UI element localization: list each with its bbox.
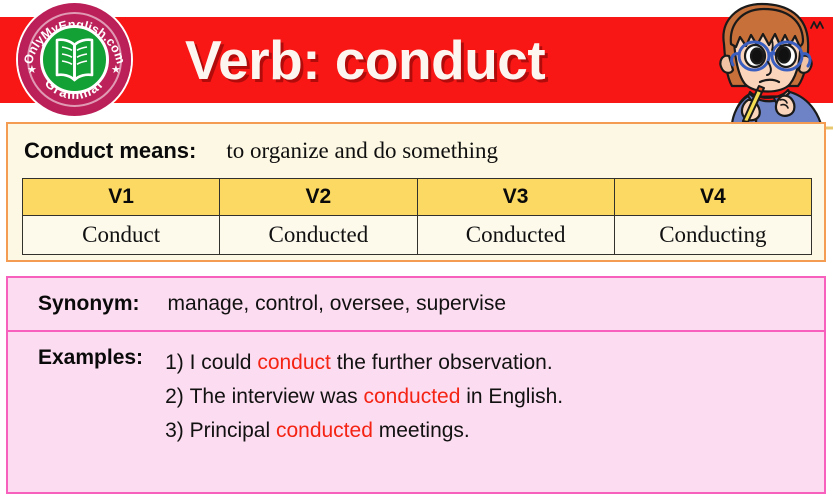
- verb-table-cell-v3: Conducted: [417, 216, 614, 255]
- meaning-label: Conduct means:: [24, 138, 196, 164]
- example-3-number: 3): [165, 419, 184, 442]
- verb-table-cell-v2: Conducted: [220, 216, 417, 255]
- verb-table-header-row: V1 V2 V3 V4: [23, 179, 812, 216]
- open-book-icon: [40, 25, 109, 94]
- examples-row: Examples: 1) I could conduct the further…: [8, 332, 824, 448]
- example-3-before: Principal: [190, 419, 276, 442]
- logo-star-right-icon: ★: [111, 65, 121, 76]
- verb-table-header-v2: V2: [220, 179, 417, 216]
- example-item-3: 3) Principal conducted meetings.: [165, 414, 824, 448]
- example-item-1: 1) I could conduct the further observati…: [165, 346, 824, 380]
- example-item-2: 2) The interview was conducted in Englis…: [165, 380, 824, 414]
- example-1-highlight: conduct: [257, 351, 331, 374]
- example-2-number: 2): [165, 385, 184, 408]
- verb-table-header-v1: V1: [23, 179, 220, 216]
- verb-table-header-v3: V3: [417, 179, 614, 216]
- meaning-row: Conduct means: to organize and do someth…: [8, 124, 824, 178]
- verb-forms-table: V1 V2 V3 V4 Conduct Conducted Conducted …: [22, 178, 812, 255]
- examples-list: 1) I could conduct the further observati…: [165, 346, 824, 448]
- verb-table-row: Conduct Conducted Conducted Conducting: [23, 216, 812, 255]
- synonym-text: manage, control, oversee, supervise: [168, 292, 507, 316]
- example-3-after: meetings.: [373, 419, 470, 442]
- meaning-text: to organize and do something: [226, 138, 498, 164]
- verb-table-cell-v4: Conducting: [614, 216, 811, 255]
- synonym-label: Synonym:: [38, 292, 140, 316]
- example-1-before: I could: [190, 351, 258, 374]
- example-1-after: the further observation.: [331, 351, 553, 374]
- meaning-panel: Conduct means: to organize and do someth…: [6, 122, 826, 262]
- synonym-row: Synonym: manage, control, oversee, super…: [8, 278, 824, 332]
- verb-table-header-v4: V4: [614, 179, 811, 216]
- synonym-examples-panel: Synonym: manage, control, oversee, super…: [6, 276, 826, 494]
- examples-label: Examples:: [38, 346, 143, 370]
- example-1-number: 1): [165, 351, 184, 374]
- example-2-before: The interview was: [190, 385, 364, 408]
- verb-table-cell-v1: Conduct: [23, 216, 220, 255]
- logo-star-left-icon: ★: [27, 65, 37, 76]
- page-title: Verb: conduct: [185, 22, 665, 98]
- example-3-highlight: conducted: [276, 419, 373, 442]
- example-2-after: in English.: [460, 385, 563, 408]
- example-2-highlight: conducted: [364, 385, 461, 408]
- site-logo-badge[interactable]: OnlyMyEnglish.com Grammar ★ ★: [18, 3, 131, 116]
